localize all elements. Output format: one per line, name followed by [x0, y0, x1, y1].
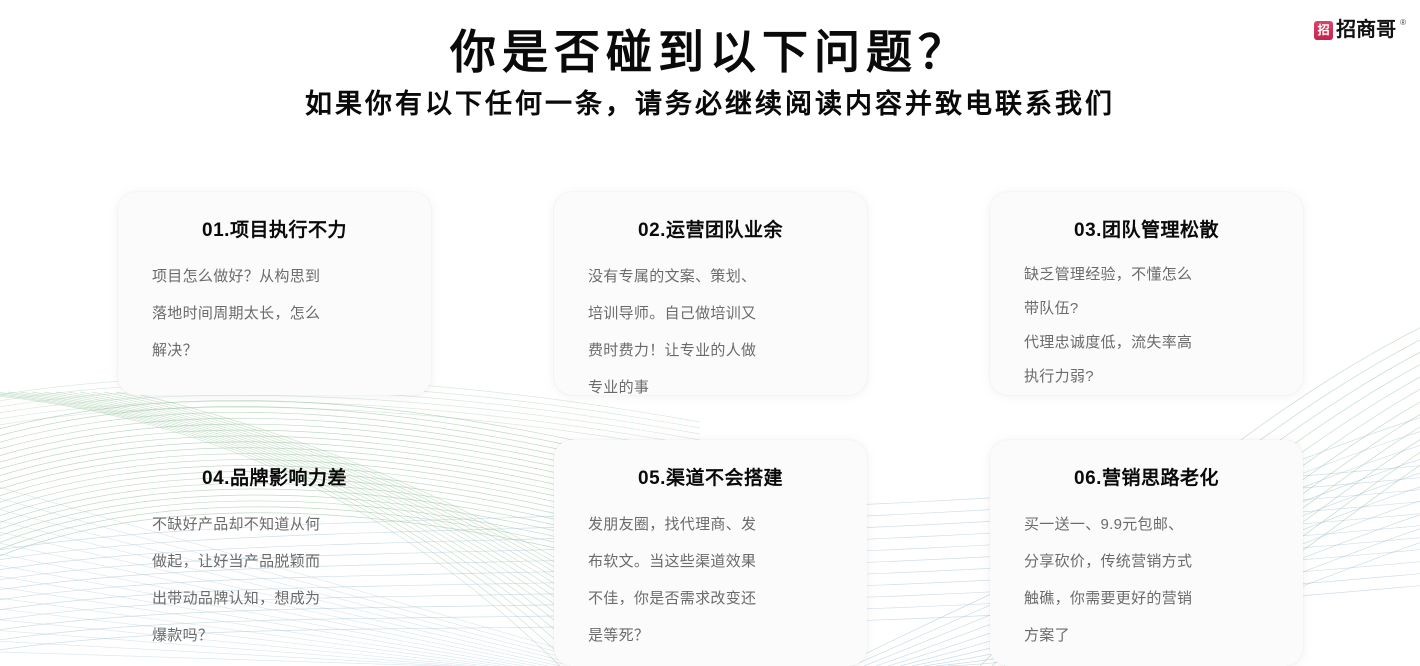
card-body-line: 解决？ — [152, 332, 397, 369]
card-body-line: 买一送一、9.9元包邮、 — [1024, 506, 1269, 543]
card-body-line: 不佳，你是否需求改变还 — [588, 580, 833, 617]
card-body-line: 带队伍? — [1024, 292, 1269, 326]
card-body: 买一送一、9.9元包邮、分享砍价，传统营销方式触礁，你需要更好的营销方案了 — [1024, 506, 1269, 654]
problem-card-06[interactable]: 06.营销思路老化买一送一、9.9元包邮、分享砍价，传统营销方式触礁，你需要更好… — [990, 440, 1303, 666]
slide-canvas: 招 招商哥 ® 你是否碰到以下问题？ 如果你有以下任何一条，请务必继续阅读内容并… — [0, 0, 1420, 666]
card-body-line: 落地时间周期太长，怎么 — [152, 295, 397, 332]
card-title: 03.团队管理松散 — [1024, 218, 1269, 244]
card-body-line: 布软文。当这些渠道效果 — [588, 543, 833, 580]
card-body-line: 不缺好产品却不知道从何 — [152, 506, 397, 543]
card-title: 06.营销思路老化 — [1024, 466, 1269, 492]
card-body-line: 执行力弱? — [1024, 360, 1269, 394]
card-body-line: 专业的事 — [588, 369, 833, 406]
card-title: 04.品牌影响力差 — [152, 466, 397, 492]
card-title: 01.项目执行不力 — [152, 218, 397, 244]
card-body: 缺乏管理经验，不懂怎么带队伍?代理忠诚度低，流失率高执行力弱? — [1024, 258, 1269, 394]
card-body-line: 做起，让好当产品脱颖而 — [152, 543, 397, 580]
problem-card-04[interactable]: 04.品牌影响力差不缺好产品却不知道从何做起，让好当产品脱颖而出带动品牌认知，想… — [118, 440, 431, 666]
card-body-line: 代理忠诚度低，流失率高 — [1024, 326, 1269, 360]
card-body-line: 是等死？ — [588, 617, 833, 654]
card-body-line: 发朋友圈，找代理商、发 — [588, 506, 833, 543]
page-subtitle: 如果你有以下任何一条，请务必继续阅读内容并致电联系我们 — [0, 86, 1420, 122]
card-body-line: 项目怎么做好？从构思到 — [152, 258, 397, 295]
problem-card-03[interactable]: 03.团队管理松散缺乏管理经验，不懂怎么带队伍?代理忠诚度低，流失率高执行力弱? — [990, 192, 1303, 395]
card-body: 没有专属的文案、策划、培训导师。自己做培训又费时费力！让专业的人做专业的事 — [588, 258, 833, 406]
card-body: 项目怎么做好？从构思到落地时间周期太长，怎么解决？ — [152, 258, 397, 369]
logo-badge-icon: 招 — [1314, 21, 1333, 40]
card-body-line: 出带动品牌认知，想成为 — [152, 580, 397, 617]
page-title: 你是否碰到以下问题？ — [0, 24, 1420, 80]
card-body: 不缺好产品却不知道从何做起，让好当产品脱颖而出带动品牌认知，想成为爆款吗？ — [152, 506, 397, 654]
card-body-line: 触礁，你需要更好的营销 — [1024, 580, 1269, 617]
card-title: 02.运营团队业余 — [588, 218, 833, 244]
logo-wordmark: 招商哥 — [1336, 20, 1396, 40]
card-body-line: 爆款吗？ — [152, 617, 397, 654]
card-title: 05.渠道不会搭建 — [588, 466, 833, 492]
problem-card-01[interactable]: 01.项目执行不力项目怎么做好？从构思到落地时间周期太长，怎么解决？ — [118, 192, 431, 395]
card-body-line: 费时费力！让专业的人做 — [588, 332, 833, 369]
registered-trademark-icon: ® — [1400, 18, 1406, 27]
brand-logo: 招 招商哥 ® — [1314, 20, 1406, 40]
card-body-line: 缺乏管理经验，不懂怎么 — [1024, 258, 1269, 292]
card-body-line: 没有专属的文案、策划、 — [588, 258, 833, 295]
problem-card-grid: 01.项目执行不力项目怎么做好？从构思到落地时间周期太长，怎么解决？02.运营团… — [118, 192, 1303, 666]
card-body-line: 分享砍价，传统营销方式 — [1024, 543, 1269, 580]
problem-card-05[interactable]: 05.渠道不会搭建发朋友圈，找代理商、发布软文。当这些渠道效果不佳，你是否需求改… — [554, 440, 867, 666]
card-body-line: 方案了 — [1024, 617, 1269, 654]
card-body: 发朋友圈，找代理商、发布软文。当这些渠道效果不佳，你是否需求改变还是等死？ — [588, 506, 833, 654]
card-body-line: 培训导师。自己做培训又 — [588, 295, 833, 332]
heading-block: 你是否碰到以下问题？ 如果你有以下任何一条，请务必继续阅读内容并致电联系我们 — [0, 0, 1420, 122]
problem-card-02[interactable]: 02.运营团队业余没有专属的文案、策划、培训导师。自己做培训又费时费力！让专业的… — [554, 192, 867, 395]
